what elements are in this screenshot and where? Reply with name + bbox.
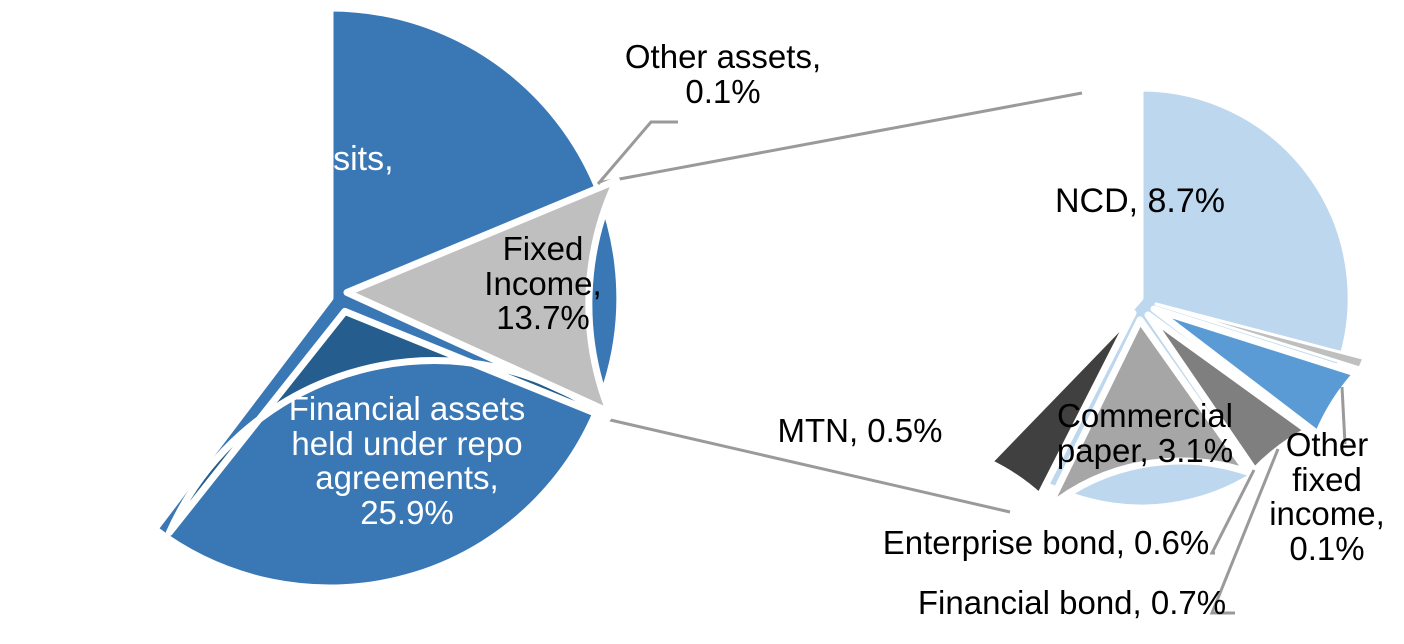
label-ncd: NCD, 8.7% xyxy=(1010,184,1270,220)
label-financial-bond: Financial bond, 0.7% xyxy=(902,586,1242,621)
label-other-fixed-income: Other fixed income, 0.1% xyxy=(1252,428,1402,567)
label-bank-deposits: Bank deposits, 60.3% xyxy=(137,142,427,213)
pie-of-pie-chart: Bank deposits, 60.3% Fixed Income, 13.7%… xyxy=(0,0,1404,644)
label-repo-agreements: Financial assets held under repo agreeme… xyxy=(257,392,557,531)
label-enterprise-bond: Enterprise bond, 0.6% xyxy=(871,526,1221,561)
label-commercial-paper: Commercial paper, 3.1% xyxy=(1035,399,1255,468)
label-fixed-income: Fixed Income, 13.7% xyxy=(463,232,623,336)
label-mtn: MTN, 0.5% xyxy=(755,414,965,449)
label-other-assets: Other assets, 0.1% xyxy=(598,40,848,109)
